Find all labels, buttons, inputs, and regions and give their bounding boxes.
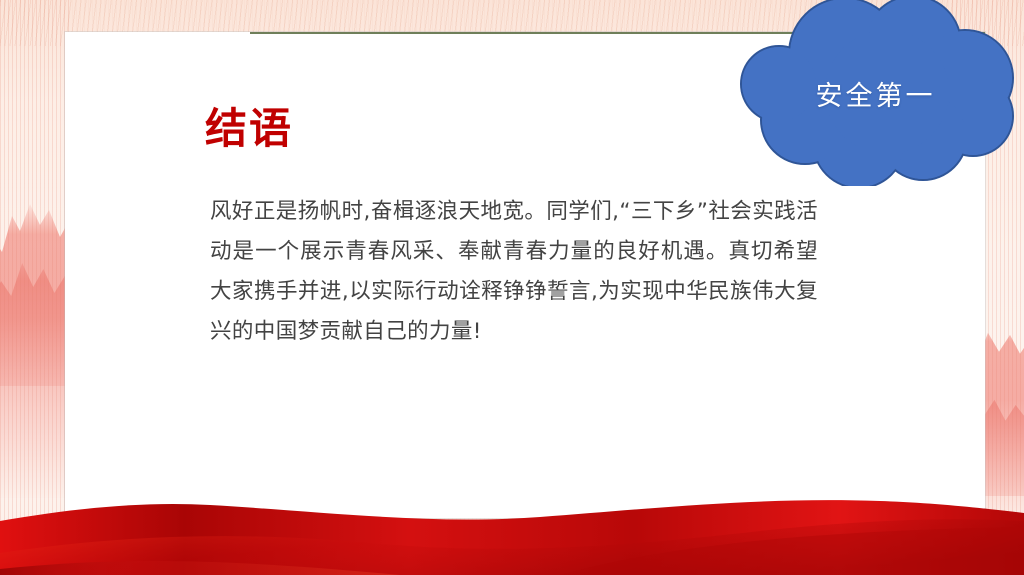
cloud-callout: 安全第一 bbox=[727, 0, 1024, 186]
left-ink-striation bbox=[0, 0, 72, 575]
slide-canvas: 结语 风好正是扬帆时,奋楫逐浪天地宽。同学们,“三下乡”社会实践活动是一个展示青… bbox=[0, 0, 1024, 575]
body-paragraph: 风好正是扬帆时,奋楫逐浪天地宽。同学们,“三下乡”社会实践活动是一个展示青春风采… bbox=[210, 192, 818, 352]
bottom-red-ribbon bbox=[0, 495, 1024, 575]
left-watercolor-mountains bbox=[0, 0, 72, 575]
ribbon-shape bbox=[0, 495, 1024, 575]
cloud-bubble-icon bbox=[727, 0, 1024, 186]
page-title: 结语 bbox=[205, 108, 293, 150]
